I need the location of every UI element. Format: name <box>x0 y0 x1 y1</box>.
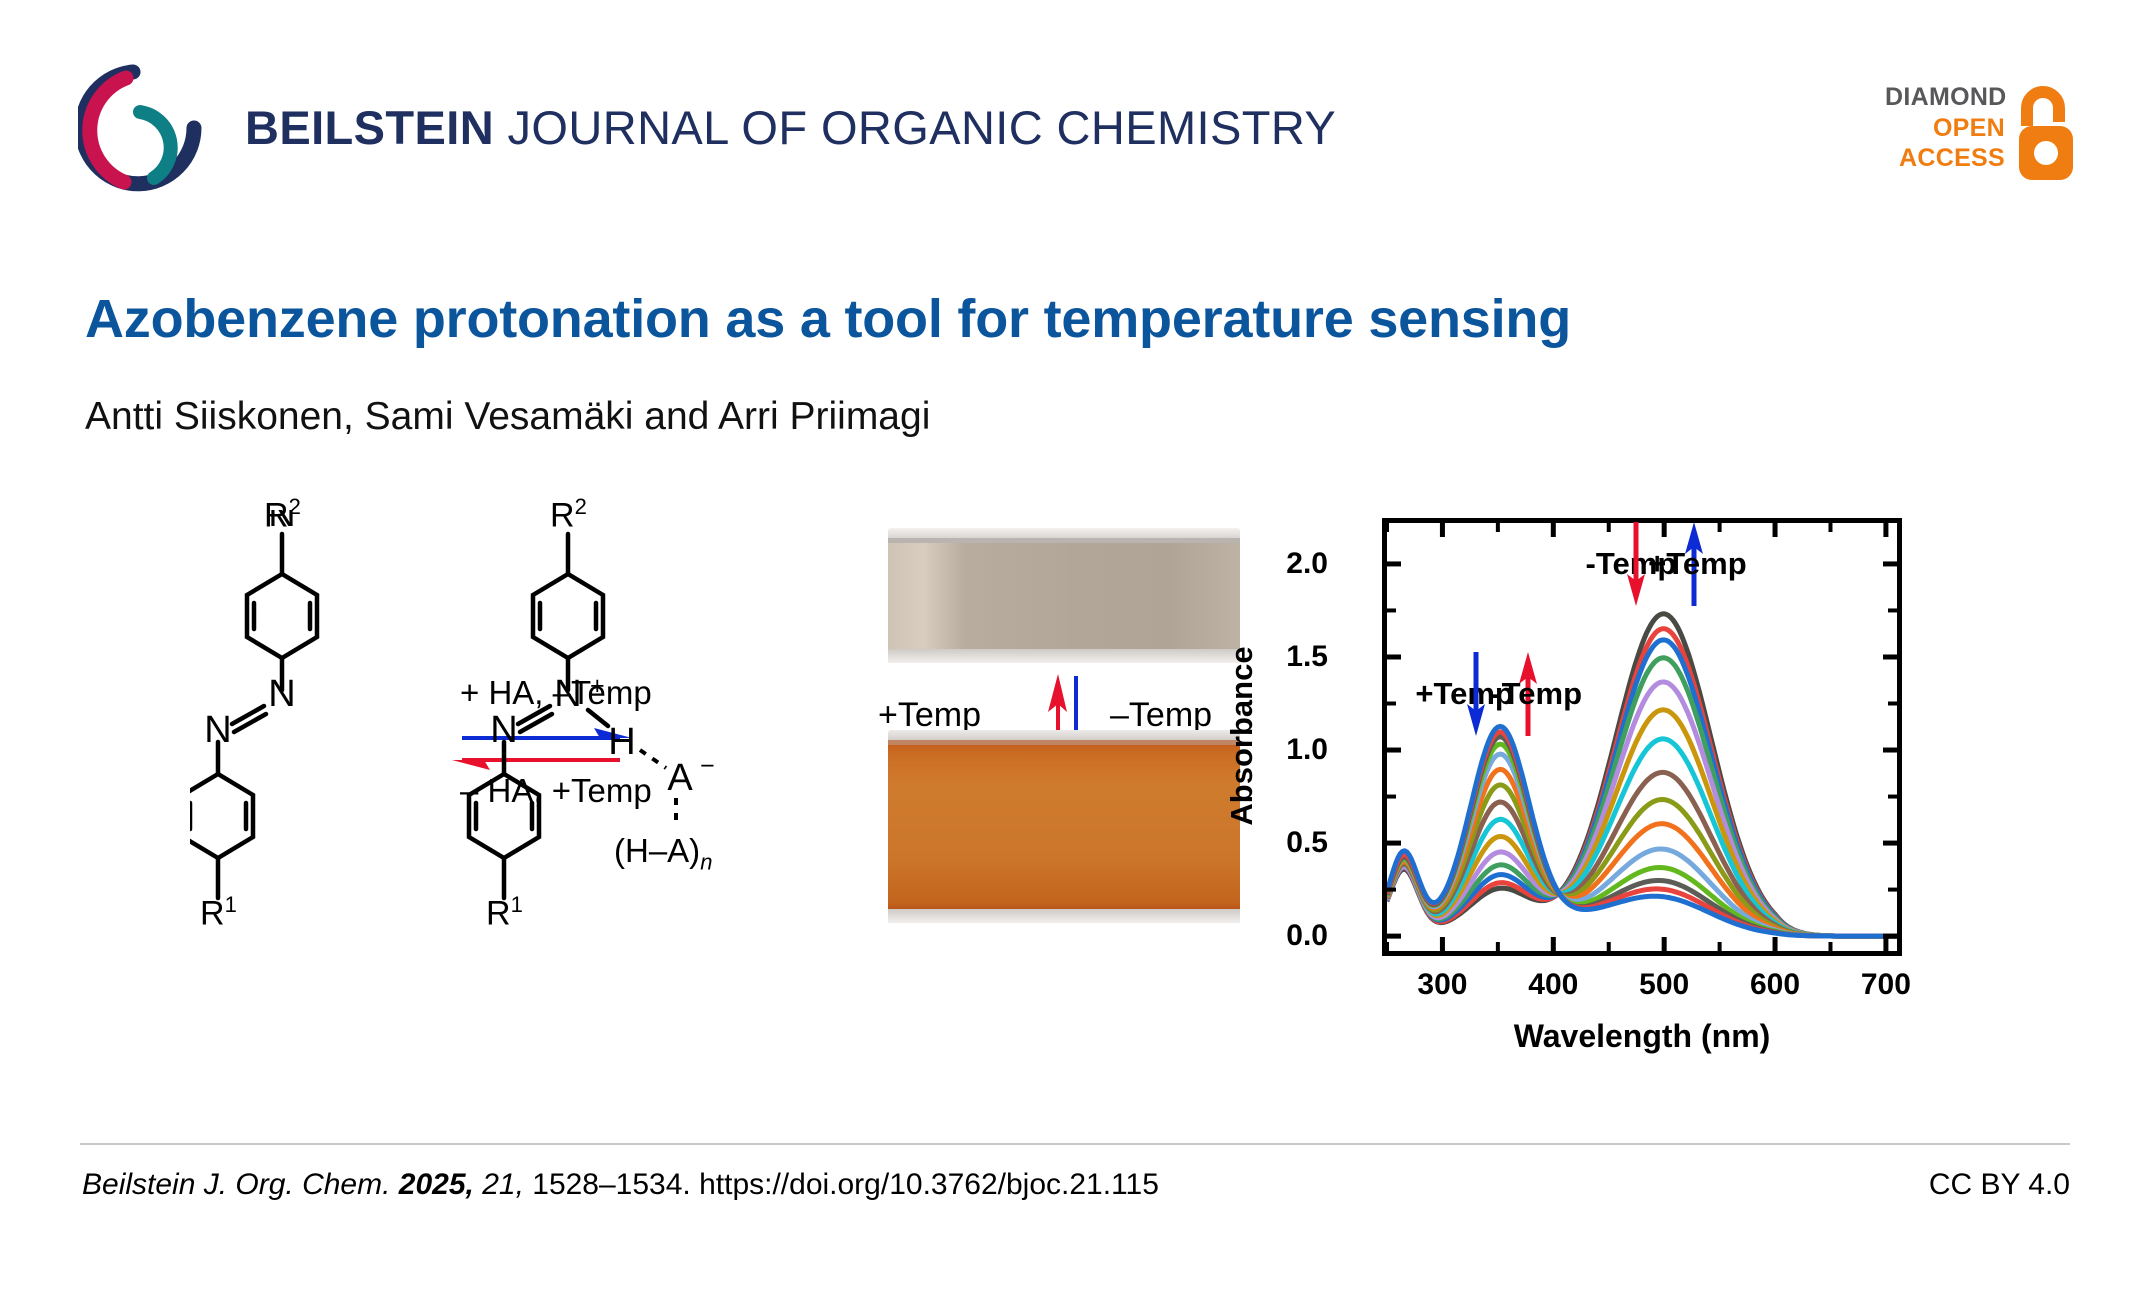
tube-glass-base <box>888 909 1240 923</box>
beilstein-triple-arc-logo <box>78 62 210 194</box>
open-access-text: DIAMOND OPEN ACCESS <box>1885 82 2005 174</box>
sample-photographs: +Temp –Temp <box>888 528 1240 1073</box>
uv-vis-absorbance-chart: Absorbance Wavelength (nm) 0.00.51.01.52… <box>1320 510 1940 1090</box>
footer-divider <box>80 1143 2070 1145</box>
chart-y-axis-label: Absorbance <box>1224 646 1260 825</box>
chart-x-tick-label: 400 <box>1528 968 1578 1002</box>
oa-line-open: OPEN <box>1885 113 2005 144</box>
citation-pages-doi: 1528–1534. https://doi.org/10.3762/bjoc.… <box>524 1168 1159 1201</box>
oa-line-access: ACCESS <box>1885 143 2005 174</box>
annotation-down-arrow-icon <box>1465 650 1487 738</box>
citation-volume: 21, <box>482 1168 524 1201</box>
left-structure-r2-label: R2 <box>264 494 301 535</box>
chart-y-tick-label: 2.0 <box>1286 547 1328 581</box>
chart-x-tick-label: 300 <box>1417 968 1467 1002</box>
tube-glass-highlight <box>888 528 1240 538</box>
cold-liquid <box>888 543 1240 649</box>
svg-text:N: N <box>268 673 295 715</box>
svg-text:−: − <box>700 752 715 780</box>
citation-line: Beilstein J. Org. Chem. 2025, 21, 1528–1… <box>82 1168 1159 1202</box>
open-padlock-icon <box>2015 78 2077 184</box>
chart-y-tick-label: 1.0 <box>1286 733 1328 767</box>
citation-year: 2025, <box>399 1168 474 1201</box>
chart-x-axis-label: Wavelength (nm) <box>1514 1018 1771 1055</box>
cold-sample-tube-photo <box>888 528 1240 668</box>
license-label: CC BY 4.0 <box>1929 1168 2070 1202</box>
page-title: Azobenzene protonation as a tool for tem… <box>85 288 2025 350</box>
counterion-aggregate-label: (H–A)n <box>614 832 712 876</box>
journal-title: BEILSTEIN JOURNAL OF ORGANIC CHEMISTRY <box>245 100 1336 155</box>
svg-text:N: N <box>490 709 517 751</box>
graphical-abstract: N N N <box>0 510 2150 1090</box>
reaction-scheme: N N N <box>190 510 890 1090</box>
reverse-condition-label: – HA, +Temp <box>460 772 652 810</box>
tube-glass-base <box>888 649 1240 663</box>
journal-title-bold: BEILSTEIN <box>245 101 494 154</box>
citation-journal: Beilstein J. Org. Chem. <box>82 1168 390 1201</box>
diamond-open-access-badge: DIAMOND OPEN ACCESS <box>1885 78 2075 188</box>
forward-condition-label: + HA, –Temp <box>460 674 652 712</box>
svg-text:N: N <box>204 709 231 751</box>
chart-y-tick-label: 1.5 <box>1286 640 1328 674</box>
chart-y-tick-label: 0.0 <box>1286 919 1328 953</box>
chart-annotation-label: -Temp <box>1491 676 1582 712</box>
svg-text:A: A <box>667 757 693 799</box>
chart-x-tick-label: 700 <box>1861 968 1911 1002</box>
journal-title-rest: JOURNAL OF ORGANIC CHEMISTRY <box>494 101 1336 154</box>
hot-liquid <box>888 745 1240 909</box>
tube-glass-highlight <box>888 730 1240 740</box>
right-structure-r1-label: R1 <box>486 892 523 933</box>
right-structure-r2-label: R2 <box>550 494 587 535</box>
svg-text:H: H <box>608 721 635 763</box>
annotation-down-arrow-icon <box>1625 520 1647 608</box>
chart-annotation-label: +Temp <box>1648 546 1746 582</box>
chart-y-tick-label: 0.5 <box>1286 826 1328 860</box>
chart-x-tick-label: 500 <box>1639 968 1689 1002</box>
masthead: BEILSTEIN JOURNAL OF ORGANIC CHEMISTRY D… <box>0 0 2150 240</box>
oa-line-diamond: DIAMOND <box>1885 82 2005 113</box>
hot-sample-tube-photo <box>888 730 1240 932</box>
left-structure-r1-label: R1 <box>200 892 237 933</box>
author-list: Antti Siiskonen, Sami Vesamäki and Arri … <box>85 395 2025 439</box>
chart-x-tick-label: 600 <box>1750 968 1800 1002</box>
